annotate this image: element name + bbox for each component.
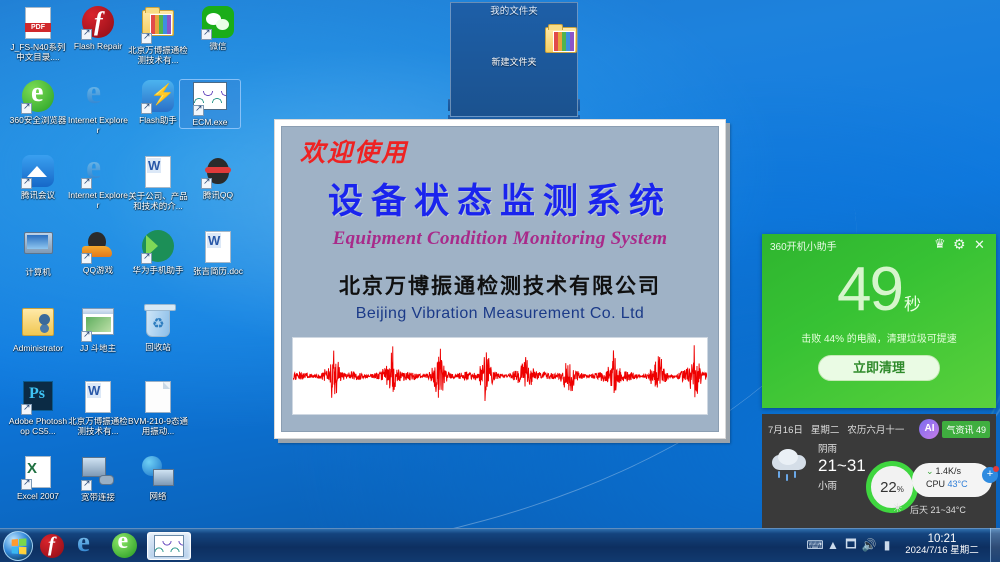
welcome-text: 欢迎使用: [300, 133, 718, 169]
app-title-chinese: 设备状态监测系统: [282, 173, 718, 224]
app-title-english: Equipment Condition Monitoring System: [282, 228, 718, 250]
close-icon[interactable]: [973, 238, 988, 253]
desktop-icon-resume-doc-glyph: [201, 231, 235, 265]
desktop-icon-about-company-doc-glyph: [141, 156, 175, 190]
weather-condition: 小雨: [818, 478, 866, 492]
desktop-icon-company-folder-glyph: [141, 10, 175, 44]
skin-icon[interactable]: [933, 238, 948, 253]
desktop-icon-computer-label: 计算机: [8, 268, 68, 278]
add-widget-button[interactable]: +: [982, 467, 998, 483]
desktop-icon-tencent-meeting-glyph: [21, 155, 55, 189]
desktop-icon-flash-helper-label: Flash助手: [128, 116, 188, 126]
waveform-svg: [293, 338, 707, 414]
widget-header: 360开机小助手: [762, 234, 996, 256]
ie-icon: [75, 533, 101, 559]
folder-window-item[interactable]: 新建文件夹: [451, 27, 577, 68]
desktop-icon-company-doc-label: 北京万博振通检测技术有...: [68, 417, 128, 436]
360-boot-assistant-widget[interactable]: 360开机小助手 49秒 击败 44% 的电脑，清理垃圾可提速 立即清理: [762, 234, 996, 408]
taskbar-clock[interactable]: 10:21 2024/7/16 星期二: [900, 534, 984, 556]
vibration-waveform-panel: [292, 337, 708, 415]
desktop-icon-pdf-catalog-label: J_FS-N40系列中文目录....: [8, 43, 68, 62]
taskbar-active-task-ecm[interactable]: [147, 532, 191, 560]
shortcut-arrow-icon: [193, 105, 204, 116]
desktop-icon-internet-explorer-2-label: Internet Explorer: [68, 191, 128, 210]
desktop-icon-wechat[interactable]: 微信: [188, 6, 248, 52]
desktop-icon-ecm-exe-label: ECM.exe: [180, 118, 240, 128]
desktop-icon-internet-explorer-1-glyph: [81, 80, 115, 114]
desktop-icon-360-browser-glyph: [21, 80, 55, 114]
desktop-icon-tencent-meeting[interactable]: 腾讯会议: [8, 155, 68, 201]
shortcut-arrow-icon: [81, 178, 92, 189]
desktop-icon-tencent-qq-label: 腾讯QQ: [188, 191, 248, 201]
start-button[interactable]: [3, 531, 33, 561]
weather-temp-range: 21~31: [818, 456, 866, 476]
weather-info: 阴雨 21~31 小雨: [818, 441, 866, 492]
desktop-icon-ecm-exe[interactable]: ECM.exe: [180, 80, 240, 128]
desktop-icon-resume-doc-label: 张吉简历.doc: [188, 267, 248, 277]
desktop-icon-excel-2007-glyph: [21, 456, 55, 490]
desktop-icon-about-company-doc[interactable]: 关于公司、产品和技术的介...: [128, 155, 188, 211]
volume-icon[interactable]: 🔊: [860, 538, 878, 552]
desktop-icon-360-browser[interactable]: 360安全浏览器: [8, 80, 68, 126]
desktop-icon-administrator-label: Administrator: [8, 344, 68, 354]
taskbar-flash-repair[interactable]: [35, 531, 69, 561]
shortcut-arrow-icon: [141, 253, 152, 264]
folder-window-item-label: 新建文件夹: [451, 55, 577, 68]
cpu-usage-value: 22: [880, 479, 897, 496]
desktop-icon-jj-landlord[interactable]: JJ 斗地主: [68, 305, 128, 354]
cpu-temp-value: 43°C: [948, 479, 968, 489]
folder-window-title: 我的文件夹: [451, 3, 577, 21]
shortcut-arrow-icon: [141, 103, 152, 114]
folder-icon: [545, 27, 577, 53]
desktop-icon-tencent-meeting-label: 腾讯会议: [8, 191, 68, 201]
system-tray: ⌨ ▲ 🗖 🔊 ▮ 10:21 2024/7/16 星期二: [806, 528, 1000, 562]
cpu-temp-label: CPU: [926, 479, 945, 489]
download-arrow-icon: ⌄: [926, 466, 934, 476]
desktop-icon-internet-explorer-1-label: Internet Explorer: [68, 116, 128, 135]
desktop-icon-flash-repair[interactable]: Flash Repair: [68, 6, 128, 52]
clean-now-button[interactable]: 立即清理: [818, 355, 940, 381]
desktop-icon-photoshop[interactable]: Adobe Photoshop CS5...: [8, 380, 68, 436]
desktop-icon-photoshop-label: Adobe Photoshop CS5...: [8, 417, 68, 436]
shortcut-arrow-icon: [21, 103, 32, 114]
sun-icon: ☀: [892, 501, 906, 515]
cpu-usage-unit: %: [897, 485, 904, 494]
desktop-icon-broadband-connection-glyph: [81, 457, 115, 491]
network-signal-icon[interactable]: ▮: [878, 538, 896, 552]
desktop-icon-about-company-doc-label: 关于公司、产品和技术的介...: [128, 192, 188, 211]
company-name-chinese: 北京万博振通检测技术有限公司: [282, 270, 718, 300]
shortcut-arrow-icon: [81, 480, 92, 491]
weather-date-row: 7月16日 星期二 农历六月十一 AI 气资讯 49: [762, 414, 996, 439]
desktop-icon-computer[interactable]: 计算机: [8, 230, 68, 278]
desktop-icon-resume-doc[interactable]: 张吉简历.doc: [188, 230, 248, 277]
clock-time: 10:21: [900, 534, 984, 545]
desktop-icon-qq-games[interactable]: QQ游戏: [68, 230, 128, 276]
shortcut-arrow-icon: [141, 33, 152, 44]
desktop-icon-administrator-glyph: [21, 308, 55, 342]
desktop-icon-recycle-bin-glyph: [141, 307, 175, 341]
desktop-icon-jj-landlord-glyph: [81, 308, 115, 342]
desktop-icon-flash-helper-glyph: [141, 80, 175, 114]
shortcut-arrow-icon: [81, 253, 92, 264]
gear-icon[interactable]: [953, 238, 968, 253]
news-chip[interactable]: 气资讯 49: [942, 421, 990, 438]
desktop-icon-bvm-210-9-doc-glyph: [141, 381, 175, 415]
widget-title: 360开机小助手: [770, 238, 928, 253]
taskbar[interactable]: ⌨ ▲ 🗖 🔊 ▮ 10:21 2024/7/16 星期二: [0, 528, 1000, 562]
weather-date: 7月16日: [768, 422, 803, 436]
desktop-icon-qq-games-glyph: [81, 230, 115, 264]
desktop-icon-wechat-label: 微信: [188, 42, 248, 52]
show-hidden-icons-arrow[interactable]: ▲: [824, 538, 842, 552]
weather-body: 阴雨 21~31 小雨 22% ⌄1.4K/s CPU 43°C + ☀ 后天 …: [762, 439, 996, 492]
shortcut-arrow-icon: [81, 29, 92, 40]
desktop-icon-flash-repair-glyph: [81, 6, 115, 40]
desktop-icon-huawei-assistant-label: 华为手机助手: [128, 266, 188, 276]
weather-tomorrow: 后天 21~34°C: [910, 503, 966, 516]
taskbar-360-browser[interactable]: [107, 531, 141, 561]
splash-panel: 欢迎使用 设备状态监测系统 Equipment Condition Monito…: [281, 126, 719, 432]
desktop-icon-recycle-bin[interactable]: 回收站: [128, 305, 188, 353]
shortcut-arrow-icon: [201, 178, 212, 189]
desktop-icon-company-folder-label: 北京万博振通检测技术有...: [128, 46, 188, 65]
desktop-icon-company-doc-glyph: [81, 381, 115, 415]
desktop-icon-wechat-glyph: [201, 6, 235, 40]
shortcut-arrow-icon: [21, 178, 32, 189]
splash-window[interactable]: 欢迎使用 设备状态监测系统 Equipment Condition Monito…: [274, 119, 726, 439]
net-speed-value: 1.4K/s: [936, 466, 962, 476]
shortcut-arrow-icon: [21, 479, 32, 490]
desktop-icon-360-browser-label: 360安全浏览器: [8, 116, 68, 126]
clock-date: 2024/7/16 星期二: [900, 545, 984, 556]
desktop-icon-qq-games-label: QQ游戏: [68, 266, 128, 276]
system-stats-pill[interactable]: ⌄1.4K/s CPU 43°C +: [912, 463, 992, 497]
desktop-icon-network[interactable]: 网络: [128, 455, 188, 502]
desktop-icon-pdf-catalog[interactable]: J_FS-N40系列中文目录....: [8, 6, 68, 62]
desktop-icon-excel-2007-label: Excel 2007: [8, 492, 68, 502]
boot-time-unit: 秒: [904, 295, 921, 314]
desktop-icon-flash-repair-label: Flash Repair: [68, 42, 128, 52]
desktop-icon-broadband-connection[interactable]: 宽带连接: [68, 455, 128, 503]
desktop-icon-excel-2007[interactable]: Excel 2007: [8, 455, 68, 502]
desktop-icon-internet-explorer-2[interactable]: Internet Explorer: [68, 155, 128, 210]
desktop-icon-tencent-qq[interactable]: 腾讯QQ: [188, 155, 248, 201]
show-desktop-button[interactable]: [990, 528, 1000, 562]
desktop-icon-recycle-bin-label: 回收站: [128, 343, 188, 353]
desktop-icon-huawei-assistant[interactable]: 华为手机助手: [128, 230, 188, 276]
taskbar-internet-explorer[interactable]: [71, 531, 105, 561]
flash-icon: [40, 534, 64, 558]
weather-system-widget[interactable]: 7月16日 星期二 农历六月十一 AI 气资讯 49 阴雨 21~31 小雨 2…: [762, 414, 996, 528]
rain-cloud-icon: [768, 447, 812, 487]
boot-time-number: 49: [837, 255, 902, 324]
desktop-icon-photoshop-glyph: [21, 381, 55, 415]
shortcut-arrow-icon: [21, 404, 32, 415]
shortcut-arrow-icon: [201, 29, 212, 40]
desktop-icon-internet-explorer-1[interactable]: Internet Explorer: [68, 80, 128, 135]
desktop-icon-network-glyph: [141, 456, 175, 490]
action-center-icon[interactable]: 🗖: [842, 535, 860, 556]
desktop-icon-bvm-210-9-doc[interactable]: BVM-210-9态通用振动...: [128, 380, 188, 436]
desktop-icon-flash-helper[interactable]: Flash助手: [128, 80, 188, 126]
desktop-icon-pdf-catalog-glyph: [21, 7, 55, 41]
desktop-icon-tencent-qq-glyph: [201, 155, 235, 189]
desktop-icon-internet-explorer-2-glyph: [81, 155, 115, 189]
keyboard-icon[interactable]: ⌨: [806, 538, 824, 552]
desktop-icon-huawei-assistant-glyph: [141, 230, 175, 264]
boot-time-row: 49秒: [762, 258, 996, 322]
desktop-icon-company-folder[interactable]: 北京万博振通检测技术有...: [128, 6, 188, 65]
ecm-window-icon: [154, 535, 184, 557]
weather-wind: 阴雨: [818, 441, 866, 455]
company-name-english: Beijing Vibration Measurement Co. Ltd: [282, 305, 718, 323]
widget-subtext: 击败 44% 的电脑，清理垃圾可提速: [762, 330, 996, 345]
desktop-icon-network-label: 网络: [128, 492, 188, 502]
weather-lunar: 农历六月十一: [847, 422, 904, 436]
desktop-icon-company-doc[interactable]: 北京万博振通检测技术有...: [68, 380, 128, 436]
desktop-icon-grid: J_FS-N40系列中文目录....Flash Repair北京万博振通检测技术…: [0, 0, 240, 520]
360-browser-icon: [112, 533, 137, 558]
ai-badge[interactable]: AI: [919, 419, 939, 439]
desktop-icon-jj-landlord-label: JJ 斗地主: [68, 344, 128, 354]
desktop-icon-bvm-210-9-doc-label: BVM-210-9态通用振动...: [128, 417, 188, 436]
shortcut-arrow-icon: [81, 331, 92, 342]
weather-weekday: 星期二: [811, 422, 840, 436]
desktop-icon-broadband-connection-label: 宽带连接: [68, 493, 128, 503]
desktop-icon-administrator[interactable]: Administrator: [8, 305, 68, 354]
desktop-icon-computer-glyph: [21, 232, 55, 266]
desktop-icon-ecm-exe-glyph: [193, 82, 227, 116]
folder-window[interactable]: 我的文件夹 新建文件夹: [450, 2, 578, 117]
